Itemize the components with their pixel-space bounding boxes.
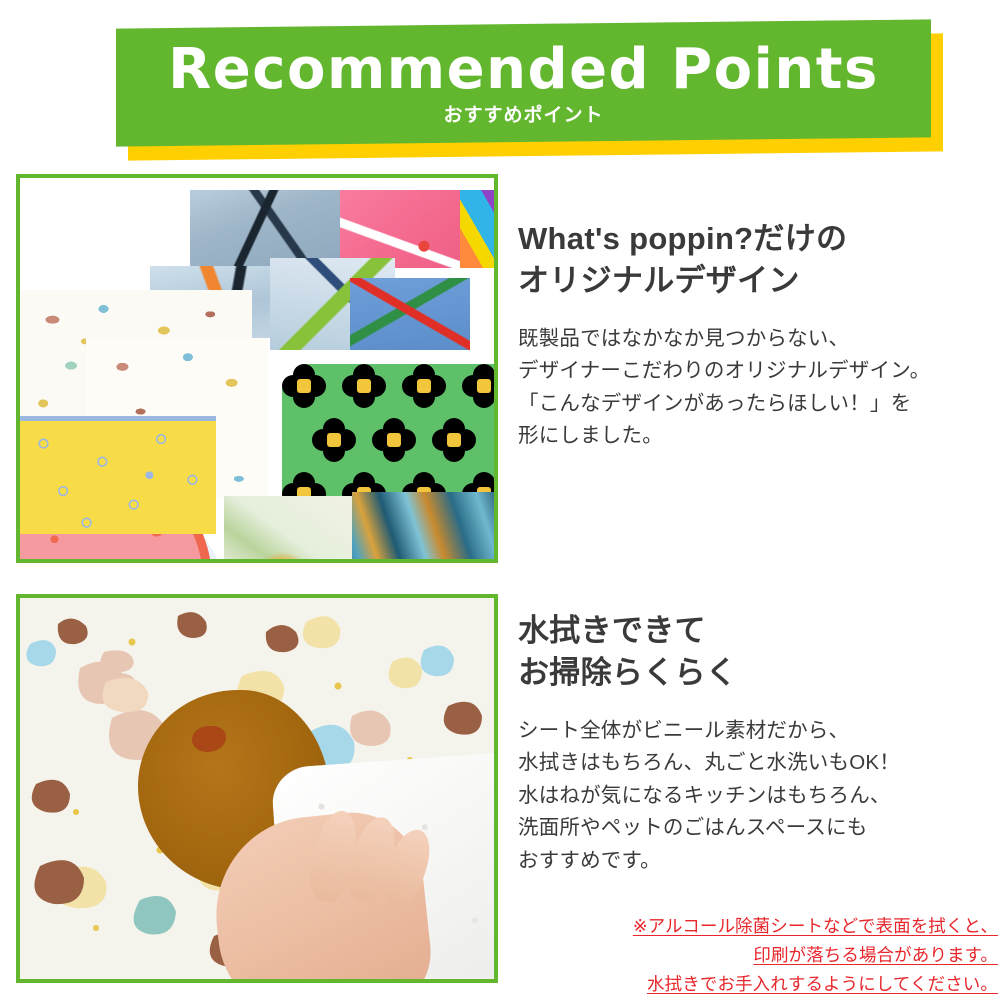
header-banner: Recommended Points おすすめポイント	[116, 19, 931, 146]
body-line: 既製品ではなかなか見つからない、	[518, 323, 988, 355]
sheet-graffiti-red	[350, 278, 470, 350]
sheet-flower-green	[282, 364, 498, 506]
page-header: Recommended Points おすすめポイント	[0, 0, 1000, 170]
heading-line-2: オリジナルデザイン	[518, 260, 988, 302]
sheet-marble-teal	[224, 496, 352, 563]
sheet-graffiti-pink	[340, 190, 460, 268]
photo-canvas	[20, 178, 494, 559]
section-2-text: 水拭きできて お掃除らくらく シート全体がビニール素材だから、 水拭きはもちろん…	[518, 594, 988, 877]
feature-section-cleaning: 水拭きできて お掃除らくらく シート全体がビニール素材だから、 水拭きはもちろん…	[0, 594, 1000, 986]
sheet-graffiti-multicolor	[460, 190, 498, 268]
section-1-text: What's poppin?だけの オリジナルデザイン 既製品ではなかなか見つか…	[518, 174, 988, 453]
design-samples-photo	[16, 174, 498, 563]
page-title: Recommended Points	[116, 42, 931, 98]
note-line: 印刷が落ちる場合があります。	[753, 945, 998, 965]
body-line: シート全体がビニール素材だから、	[518, 715, 988, 747]
body-line: 形にしました。	[518, 420, 988, 452]
sheet-squiggle-yellow	[20, 416, 216, 534]
sheet-graffiti-blue	[190, 190, 340, 268]
caution-note: ※アルコール除菌シートなどで表面を拭くと、 印刷が落ちる場合があります。 水拭き…	[518, 912, 998, 999]
sheet-marble-blue	[352, 492, 498, 563]
body-line: 水拭きはもちろん、丸ごと水洗いもOK！	[518, 747, 988, 779]
heading-line-2: お掃除らくらく	[518, 652, 988, 694]
flower-pattern-icon	[282, 364, 498, 506]
section-2-body: シート全体がビニール素材だから、 水拭きはもちろん、丸ごと水洗いもOK！ 水はね…	[518, 693, 988, 877]
note-line: 水拭きでお手入れするようにしてください。	[647, 974, 998, 994]
body-line: 洗面所やペットのごはんスペースにも	[518, 812, 988, 844]
photo-canvas	[20, 598, 494, 979]
page-subtitle: おすすめポイント	[116, 106, 931, 125]
note-line: ※アルコール除菌シートなどで表面を拭くと、	[633, 916, 998, 936]
section-2-heading: 水拭きできて お掃除らくらく	[518, 594, 988, 693]
heading-line-1: 水拭きできて	[518, 610, 988, 652]
wipe-clean-photo	[16, 594, 498, 983]
body-line: 水はねが気になるキッチンはもちろん、	[518, 780, 988, 812]
body-line: 「こんなデザインがあったらほしい！」を	[518, 388, 988, 420]
body-line: おすすめです。	[518, 845, 988, 877]
body-line: デザイナーこだわりのオリジナルデザイン。	[518, 355, 988, 387]
section-1-heading: What's poppin?だけの オリジナルデザイン	[518, 174, 988, 301]
feature-section-design: What's poppin?だけの オリジナルデザイン 既製品ではなかなか見つか…	[0, 174, 1000, 566]
section-1-body: 既製品ではなかなか見つからない、 デザイナーこだわりのオリジナルデザイン。 「こ…	[518, 301, 988, 453]
heading-line-1: What's poppin?だけの	[518, 218, 988, 260]
